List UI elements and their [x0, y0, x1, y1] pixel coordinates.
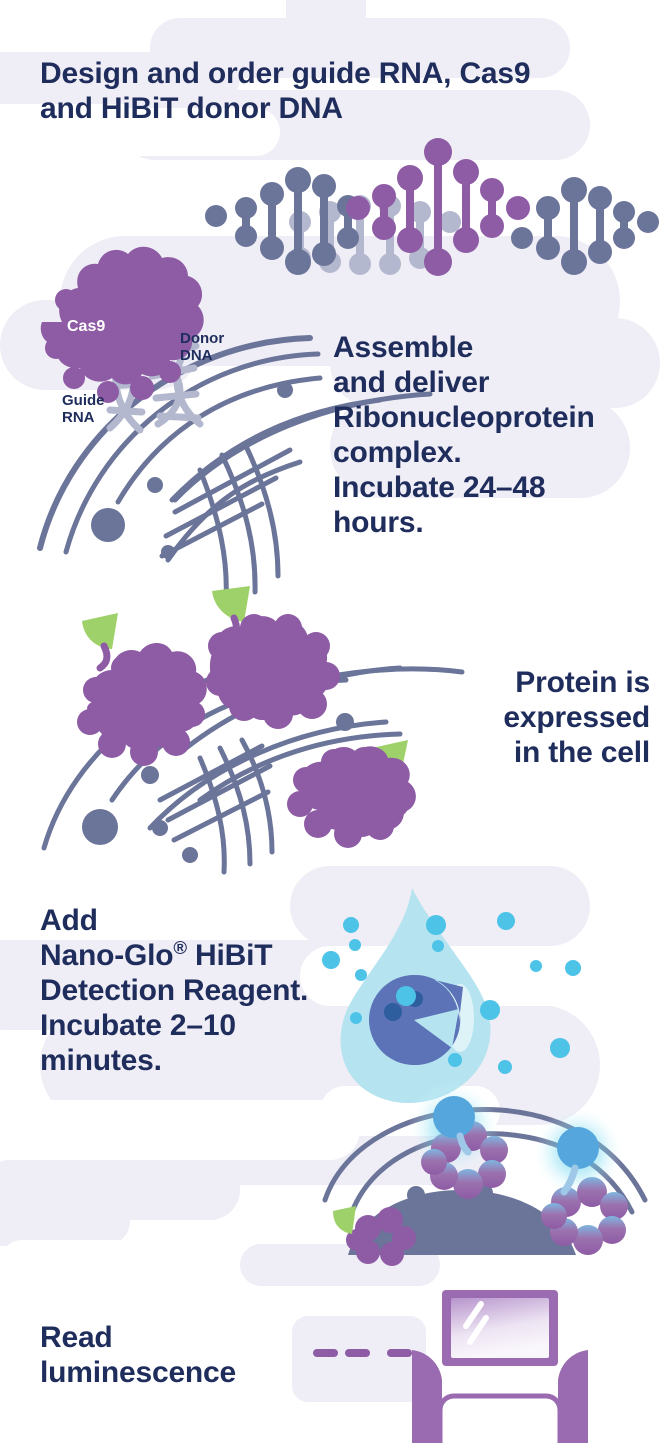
step-4-title: Add Nano-Glo® HiBiT Detection Reagent. I…	[40, 903, 380, 1078]
cas9-label: Cas9	[67, 318, 105, 335]
luminometer-display-dashes	[313, 1349, 412, 1357]
workflow-infographic: Design and order guide RNA, Cas9 and HiB…	[0, 0, 667, 1443]
luminometer-display-card	[292, 1316, 426, 1402]
step-1-title: Design and order guide RNA, Cas9 and HiB…	[40, 56, 640, 126]
step-3-title: Protein is expressed in the cell	[400, 665, 650, 770]
registered-mark: ®	[173, 937, 187, 958]
step-5-title: Read luminescence	[40, 1320, 300, 1390]
step-2-title: Assemble and deliver Ribonucleoprotein c…	[333, 330, 663, 540]
donor-dna-label: Donor DNA	[180, 330, 224, 364]
instrument-screen	[442, 1290, 558, 1366]
guide-rna-label: Guide RNA	[62, 392, 105, 426]
